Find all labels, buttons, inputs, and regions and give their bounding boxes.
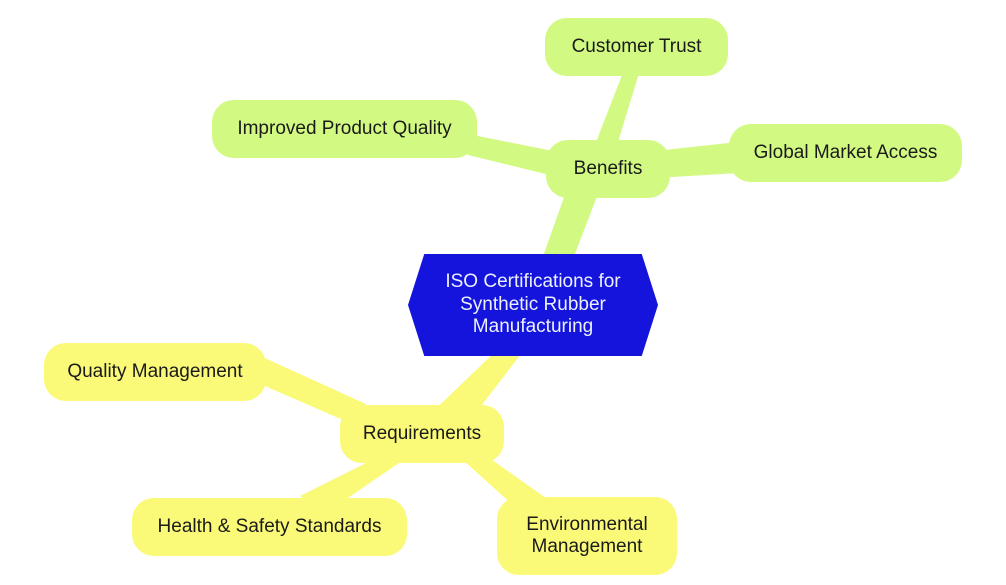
leaf-node-customer-trust[interactable]: Customer Trust: [545, 18, 728, 76]
branch-node-benefits[interactable]: Benefits: [546, 140, 670, 198]
leaf-node-environmental-management-label: Environmental Management: [526, 514, 647, 559]
branch-node-requirements[interactable]: Requirements: [340, 405, 504, 463]
leaf-node-quality-management[interactable]: Quality Management: [44, 343, 266, 401]
root-node-iso-certifications[interactable]: ISO Certifications for Synthetic Rubber …: [408, 254, 658, 356]
leaf-node-global-market-access[interactable]: Global Market Access: [729, 124, 962, 182]
root-node-label: ISO Certifications for Synthetic Rubber …: [445, 271, 620, 338]
leaf-node-improved-product-quality-label: Improved Product Quality: [237, 118, 451, 140]
leaf-node-global-market-access-label: Global Market Access: [754, 142, 938, 164]
branch-node-benefits-label: Benefits: [574, 158, 643, 180]
leaf-node-customer-trust-label: Customer Trust: [572, 36, 702, 58]
mindmap-canvas: ISO Certifications for Synthetic Rubber …: [0, 0, 1006, 585]
edge-benefits-to-improved-product-quality: [468, 134, 558, 177]
branch-node-requirements-label: Requirements: [363, 423, 481, 445]
leaf-node-health-safety-standards-label: Health & Safety Standards: [158, 516, 382, 538]
leaf-node-environmental-management[interactable]: Environmental Management: [497, 497, 677, 575]
leaf-node-health-safety-standards[interactable]: Health & Safety Standards: [132, 498, 407, 556]
leaf-node-improved-product-quality[interactable]: Improved Product Quality: [212, 100, 477, 158]
leaf-node-quality-management-label: Quality Management: [67, 361, 242, 383]
